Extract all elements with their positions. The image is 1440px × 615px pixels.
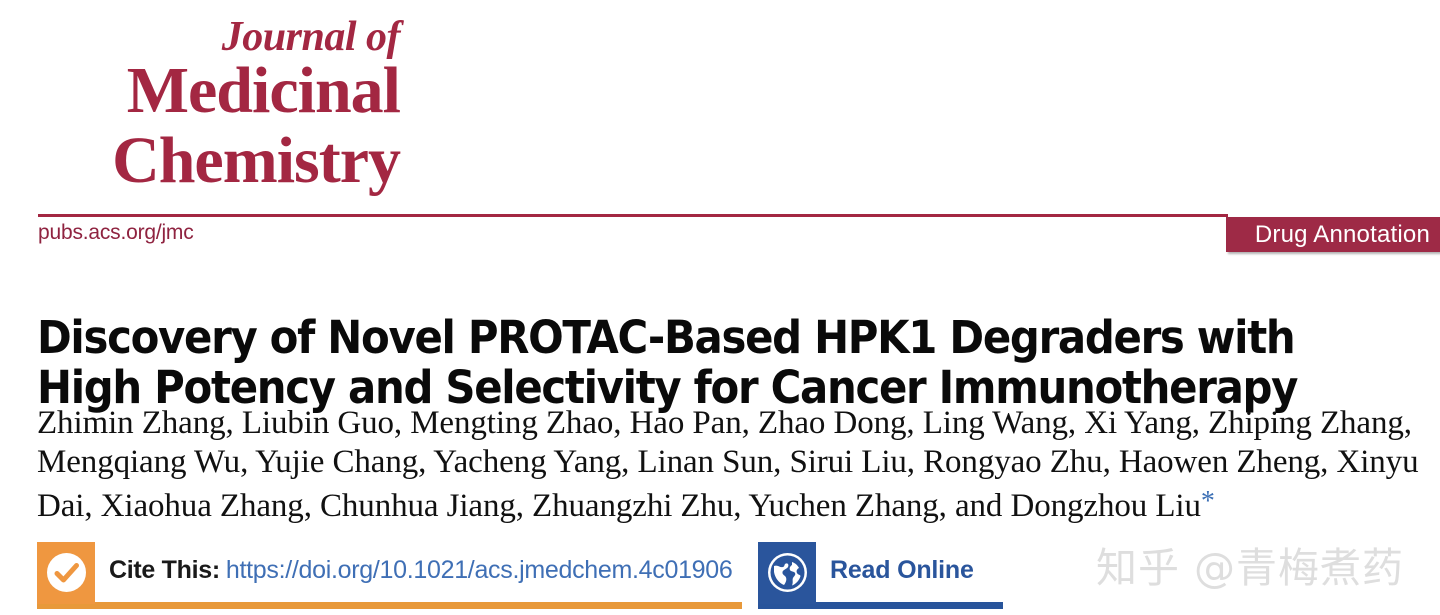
article-title: Discovery of Novel PROTAC-Based HPK1 Deg… [37, 313, 1311, 413]
zhihu-watermark: 知乎 @青梅煮药 [1096, 534, 1404, 594]
read-online-label[interactable]: Read Online [830, 556, 974, 585]
journal-masthead: Journal of Medicinal Chemistry [0, 0, 430, 210]
masthead-line-chemistry: Chemistry [0, 128, 400, 194]
read-online-icon-container [758, 542, 816, 604]
cite-this-block[interactable]: Cite This:https://doi.org/10.1021/acs.jm… [37, 542, 742, 615]
author-list: Zhimin Zhang, Liubin Guo, Mengting Zhao,… [37, 404, 1437, 526]
cite-icon-container [37, 542, 95, 604]
cite-doi-link[interactable]: https://doi.org/10.1021/acs.jmedchem.4c0… [226, 556, 733, 584]
article-type-badge-label: Drug Annotation [1226, 221, 1430, 249]
cite-underline-bar [37, 602, 742, 609]
masthead-line-medicinal: Medicinal [0, 58, 400, 124]
journal-url-link[interactable]: pubs.acs.org/jmc [38, 221, 194, 245]
masthead-line-journal-of: Journal of [0, 16, 400, 58]
check-circle-icon [47, 553, 86, 592]
corresponding-author-asterisk[interactable]: * [1201, 486, 1215, 517]
article-type-badge: Drug Annotation [1226, 217, 1440, 252]
read-online-block[interactable]: Read Online [758, 542, 1003, 615]
header-divider-rule [38, 214, 1228, 217]
cite-this-label: Cite This: [109, 556, 220, 584]
globe-icon [768, 553, 807, 592]
cite-text-wrapper: Cite This:https://doi.org/10.1021/acs.jm… [109, 556, 732, 585]
